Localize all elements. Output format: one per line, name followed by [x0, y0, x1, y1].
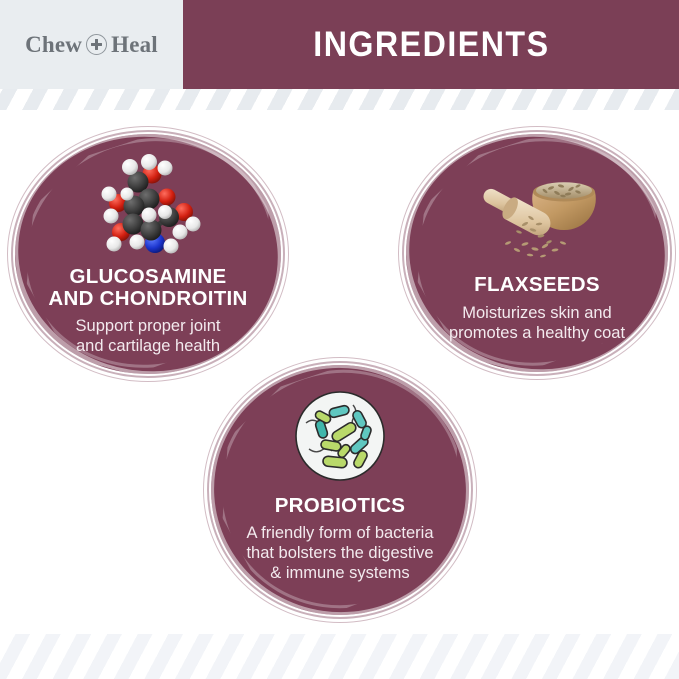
ingredient-title-probiotics: PROBIOTICS [275, 495, 406, 517]
header-title-panel: INGREDIENTS [183, 0, 679, 89]
ingredient-description-probiotics: A friendly form of bacteria that bolster… [246, 523, 433, 583]
bacteria-cell-icon [293, 389, 387, 483]
ingredient-description-flaxseeds: Moisturizes skin and promotes a healthy … [449, 303, 625, 343]
brand-name-chew: Chew [25, 32, 82, 58]
ingredient-title-flaxseeds: FLAXSEEDS [474, 274, 600, 296]
brand-logo: Chew Heal [25, 32, 158, 58]
page-title: INGREDIENTS [313, 25, 549, 65]
ingredient-description-glucosamine: Support proper joint and cartilage healt… [76, 316, 221, 356]
ingredient-circle-probiotics: PROBIOTICS A friendly form of bacteria t… [211, 365, 469, 615]
plus-in-circle-icon [86, 34, 107, 55]
brand-name-heal: Heal [111, 32, 158, 58]
ingredients-infographic: Chew Heal INGREDIENTS [0, 0, 679, 679]
header-bar: Chew Heal INGREDIENTS [0, 0, 679, 89]
ingredient-circle-glucosamine: GLUCOSAMINE AND CHONDROITIN Support prop… [15, 134, 281, 374]
ingredient-title-glucosamine: GLUCOSAMINE AND CHONDROITIN [48, 266, 247, 310]
ingredient-circle-flaxseeds: FLAXSEEDS Moisturizes skin and promotes … [406, 134, 668, 372]
decorative-stripes-top [0, 89, 679, 110]
bowl-of-flaxseeds-icon [473, 158, 601, 262]
brand-logo-panel: Chew Heal [0, 0, 183, 89]
molecule-ball-and-stick-icon [89, 154, 207, 258]
decorative-stripes-bottom [0, 634, 679, 679]
